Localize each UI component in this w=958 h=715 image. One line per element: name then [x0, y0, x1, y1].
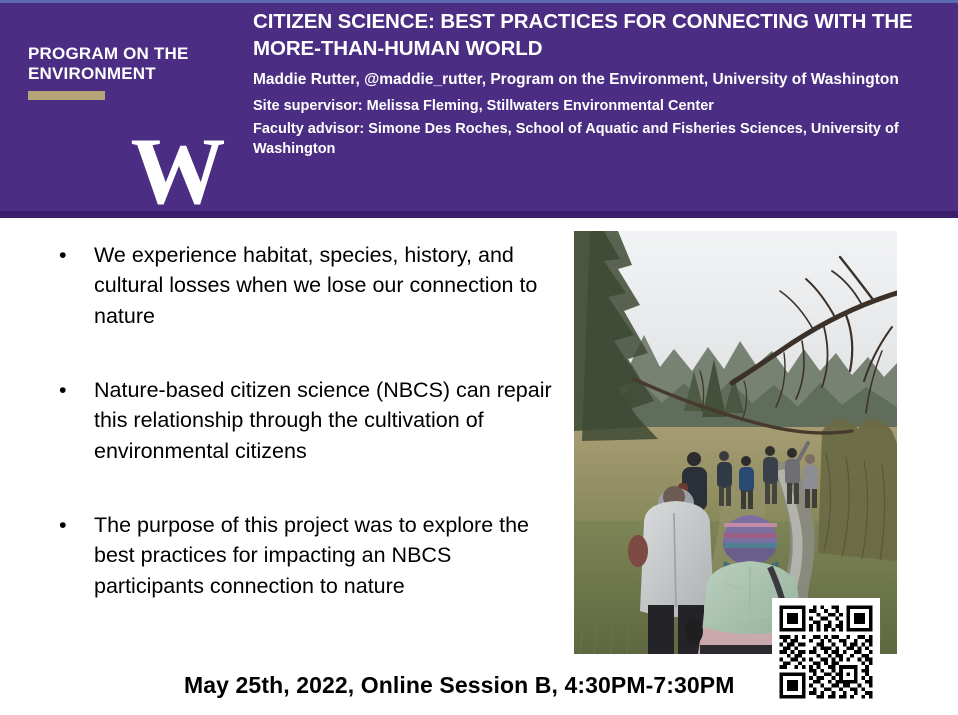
logo-gold-rule [28, 91, 105, 100]
field-trip-photo-graphic [574, 231, 897, 654]
list-item-text: We experience habitat, species, history,… [94, 243, 537, 328]
list-item: • Nature-based citizen science (NBCS) ca… [46, 375, 566, 466]
list-item: • The purpose of this project was to exp… [46, 510, 566, 601]
key-points-list: • We experience habitat, species, histor… [46, 240, 566, 601]
site-supervisor-line: Site supervisor: Melissa Fleming, Stillw… [253, 96, 958, 116]
qr-code-graphic [772, 598, 880, 706]
header-bottom-accent-line [0, 211, 958, 218]
logo-wordmark-line-2: ENVIRONMENT [28, 64, 243, 84]
uw-w-logo-icon: W [118, 128, 236, 214]
session-info: May 25th, 2022, Online Session B, 4:30PM… [184, 672, 735, 699]
poster-header: PROGRAM ON THE ENVIRONMENT W CITIZEN SCI… [0, 0, 958, 218]
list-item: • We experience habitat, species, histor… [46, 240, 566, 331]
list-item-text: The purpose of this project was to explo… [94, 513, 529, 598]
author-byline: Maddie Rutter, @maddie_rutter, Program o… [253, 69, 958, 90]
logo-wordmark-line-1: PROGRAM ON THE [28, 44, 243, 64]
field-trip-photo [574, 231, 897, 654]
header-text-column: CITIZEN SCIENCE: BEST PRACTICES FOR CONN… [253, 8, 958, 162]
bullet-dot-icon: • [59, 240, 67, 270]
bullet-dot-icon: • [59, 510, 67, 540]
bullet-dot-icon: • [59, 375, 67, 405]
faculty-advisor-line: Faculty advisor: Simone Des Roches, Scho… [253, 119, 958, 159]
poster-slide: PROGRAM ON THE ENVIRONMENT W CITIZEN SCI… [0, 0, 958, 715]
list-item-text: Nature-based citizen science (NBCS) can … [94, 378, 552, 463]
qr-code[interactable] [772, 598, 880, 706]
uw-poe-logo: PROGRAM ON THE ENVIRONMENT [28, 44, 243, 100]
page-title: CITIZEN SCIENCE: BEST PRACTICES FOR CONN… [253, 8, 958, 63]
header-top-accent-line [0, 0, 958, 3]
